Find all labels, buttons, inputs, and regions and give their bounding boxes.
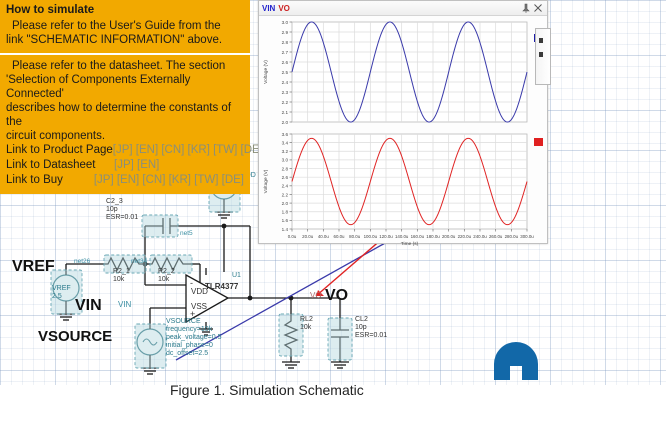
datasheet-line1: Please refer to the datasheet. The secti… — [6, 59, 244, 73]
how-to-simulate-line1: Please refer to the User's Guide from th… — [6, 19, 244, 33]
vsource-param-peak-voltage: peak_voltage=0.5 — [166, 334, 221, 342]
scope-tab-vin[interactable]: VIN — [262, 4, 275, 13]
net-label-net26: net26 — [74, 258, 90, 265]
datasheet-line2: 'Selection of Components Externally Conn… — [6, 73, 244, 101]
scope-side-panel[interactable] — [535, 28, 551, 85]
svg-text:20.0u: 20.0u — [302, 234, 314, 239]
pin-icon[interactable] — [520, 2, 532, 14]
net-label-net5: net5 — [180, 230, 193, 237]
link-row-buy[interactable]: Link to Buy [JP] [EN] [CN] [KR] [TW] [DE… — [6, 173, 244, 188]
opamp-part-text: TLR4377 — [205, 283, 238, 292]
link-label-datasheet: Link to Datasheet — [6, 158, 114, 173]
scope-tab-vo[interactable]: VO — [278, 4, 290, 13]
vsource-param-initial-phase: initial_phase=0 — [166, 342, 213, 350]
svg-text:2.4: 2.4 — [282, 80, 289, 85]
label-vsource: VSOURCE — [38, 328, 112, 345]
link-label-product-page: Link to Product Page — [6, 143, 113, 158]
vsource-param-frequency: frequency=10k — [166, 326, 212, 334]
brand-logo — [488, 346, 544, 380]
datasheet-info-box: Please refer to the datasheet. The secti… — [0, 55, 250, 194]
svg-text:60.0u: 60.0u — [334, 234, 346, 239]
r21-value-text: 10k — [113, 276, 124, 285]
net-label-net34: net34 — [131, 258, 147, 265]
legend-swatch-vo[interactable] — [534, 138, 543, 146]
datasheet-line4: circuit components. — [6, 129, 244, 143]
svg-text:3.2: 3.2 — [282, 149, 289, 154]
svg-text:2.0: 2.0 — [282, 120, 289, 125]
link-label-buy: Link to Buy — [6, 173, 94, 188]
side-panel-item-2[interactable] — [539, 52, 543, 57]
svg-text:3.6: 3.6 — [282, 132, 289, 137]
close-icon[interactable] — [532, 2, 544, 14]
svg-text:300.0u: 300.0u — [520, 234, 534, 239]
svg-text:120.0u: 120.0u — [379, 234, 393, 239]
svg-text:2.5: 2.5 — [282, 70, 289, 75]
how-to-simulate-line2: link "SCHEMATIC INFORMATION" above. — [6, 33, 244, 47]
svg-text:240.0u: 240.0u — [473, 234, 487, 239]
opamp-designator-text: U1 — [232, 272, 241, 280]
how-to-simulate-title: How to simulate — [6, 4, 244, 16]
svg-text:140.0u: 140.0u — [395, 234, 409, 239]
svg-text:2.2: 2.2 — [282, 100, 289, 105]
svg-text:2.6: 2.6 — [282, 60, 289, 65]
scope-window: VIN VO 2.02.12.22.32.42.52.62.72.82.93.0… — [258, 0, 548, 244]
vref-value-text: 2.5 — [52, 293, 62, 301]
cl2-selection-box — [328, 318, 352, 360]
svg-text:180.0u: 180.0u — [426, 234, 440, 239]
svg-text:2.4: 2.4 — [282, 184, 289, 189]
rl2-value-text: 10k — [300, 324, 311, 333]
datasheet-line3: describes how to determine the constants… — [6, 101, 244, 129]
link-codes-buy[interactable]: [JP] [EN] [CN] [KR] [TW] [DE] — [94, 173, 244, 188]
svg-text:40.0u: 40.0u — [318, 234, 330, 239]
svg-text:Voltage (V): Voltage (V) — [263, 60, 269, 84]
svg-text:2.2: 2.2 — [282, 192, 289, 197]
svg-text:Time (s): Time (s) — [401, 241, 419, 247]
link-row-datasheet[interactable]: Link to Datasheet [JP] [EN] — [6, 158, 244, 173]
opamp-pin-minus-text: - — [190, 279, 193, 288]
r22-value-text: 10k — [158, 276, 169, 285]
side-panel-item-1[interactable] — [539, 38, 543, 43]
svg-text:2.3: 2.3 — [282, 90, 289, 95]
svg-text:2.8: 2.8 — [282, 40, 289, 45]
svg-text:220.0u: 220.0u — [458, 234, 472, 239]
svg-text:3.0: 3.0 — [282, 20, 289, 25]
link-row-product-page[interactable]: Link to Product Page [JP] [EN] [CN] [KR]… — [6, 143, 244, 158]
cl2-esr-text: ESR=0.01 — [355, 332, 387, 341]
svg-text:1.4: 1.4 — [282, 227, 289, 232]
figure-caption: Figure 1. Simulation Schematic — [170, 382, 364, 398]
vsource-params-title: VSOURCE — [166, 318, 201, 326]
c23-esr-text: ESR=0.01 — [106, 214, 138, 223]
link-codes-datasheet[interactable]: [JP] [EN] — [114, 158, 159, 173]
chart-vin: 2.02.12.22.32.42.52.62.72.82.93.0Voltage… — [259, 16, 545, 128]
svg-text:100.0u: 100.0u — [364, 234, 378, 239]
vsource-param-dc-offset: dc_offset=2.5 — [166, 350, 208, 358]
scope-titlebar: VIN VO — [259, 1, 547, 16]
svg-text:2.6: 2.6 — [282, 175, 289, 180]
svg-text:2.9: 2.9 — [282, 30, 289, 35]
svg-text:Voltage (V): Voltage (V) — [263, 169, 269, 193]
opamp-pin-vdd-text: VDD — [191, 288, 208, 297]
svg-text:1.8: 1.8 — [282, 210, 289, 215]
svg-text:3.4: 3.4 — [282, 140, 289, 145]
c23-selection-box — [142, 215, 178, 237]
label-vref: VREF — [12, 258, 55, 276]
net-label-vo: VO — [310, 291, 322, 300]
svg-text:160.0u: 160.0u — [411, 234, 425, 239]
svg-text:280.0u: 280.0u — [505, 234, 519, 239]
vref-ref-text: VREF — [52, 285, 71, 293]
scope-plots: 2.02.12.22.32.42.52.62.72.82.93.0Voltage… — [259, 16, 547, 253]
svg-text:260.0u: 260.0u — [489, 234, 503, 239]
how-to-simulate-box: How to simulate Please refer to the User… — [0, 0, 250, 55]
net-label-vin: VIN — [118, 300, 131, 309]
svg-text:200.0u: 200.0u — [442, 234, 456, 239]
svg-text:1.6: 1.6 — [282, 218, 289, 223]
svg-text:2.0: 2.0 — [282, 201, 289, 206]
svg-text:80.0u: 80.0u — [349, 234, 361, 239]
vsource-selection-box — [135, 324, 166, 368]
info-panel: How to simulate Please refer to the User… — [0, 0, 250, 194]
svg-text:3.0: 3.0 — [282, 158, 289, 163]
label-vo: VO — [325, 287, 348, 305]
svg-text:2.7: 2.7 — [282, 50, 289, 55]
svg-text:2.1: 2.1 — [282, 110, 289, 115]
link-codes-product-page[interactable]: [JP] [EN] [CN] [KR] [TW] [DE] — [113, 143, 263, 158]
svg-text:0.0u: 0.0u — [288, 234, 297, 239]
chart-vo: 0.0u20.0u40.0u60.0u80.0u100.0u120.0u140.… — [259, 128, 545, 253]
svg-text:2.8: 2.8 — [282, 166, 289, 171]
label-vin: VIN — [75, 297, 102, 315]
